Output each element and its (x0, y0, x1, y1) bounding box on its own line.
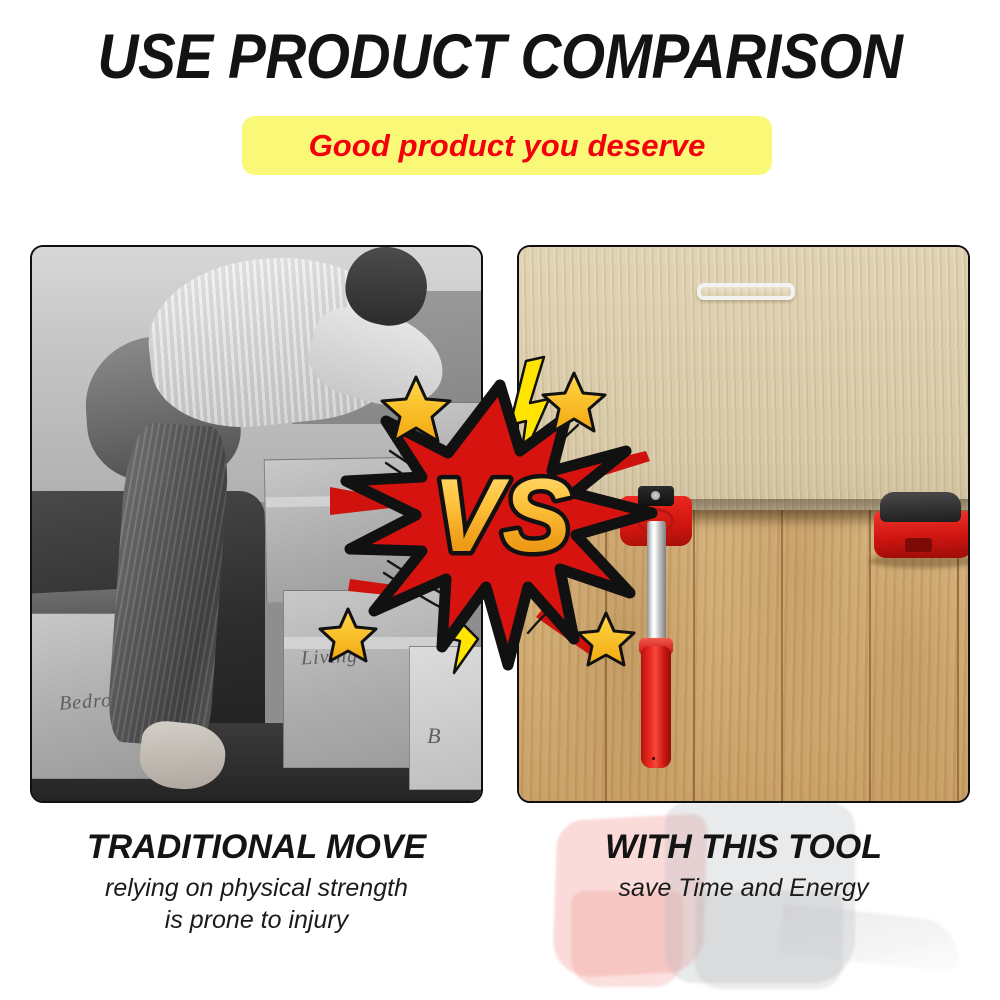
lifter-screw (651, 491, 661, 500)
caption-line: save Time and Energy (517, 872, 970, 904)
caption-line: relying on physical strength (30, 872, 483, 904)
product-comparison-infographic: USE PRODUCT COMPARISON Good product you … (0, 0, 1000, 1000)
caption-title-tool: WITH THIS TOOL (517, 826, 970, 868)
panel-traditional-move: Bedroom Living B (30, 245, 483, 803)
pink-handle-watermark (0, 0, 14, 427)
furniture-panel (517, 245, 970, 510)
watermark-red-base (571, 891, 683, 987)
caption-traditional-move: TRADITIONAL MOVE relying on physical str… (30, 826, 483, 936)
roller-notch (905, 538, 932, 551)
watermark-lifter-blade (778, 904, 962, 973)
with-this-tool-photo (519, 247, 968, 801)
caption-with-this-tool: WITH THIS TOOL save Time and Energy (517, 826, 970, 904)
lifter-grip (641, 646, 671, 768)
caption-sub-tool: save Time and Energy (517, 872, 970, 904)
caption-line: is prone to injury (30, 904, 483, 936)
lifter-shaft (647, 521, 667, 654)
watermark-gray-base (695, 891, 843, 989)
subtitle-badge-label: Good product you deserve (309, 128, 706, 164)
roller-pad (880, 492, 961, 522)
traditional-move-photo: Bedroom Living B (32, 247, 481, 801)
caption-title-traditional: TRADITIONAL MOVE (30, 826, 483, 868)
subtitle-badge: Good product you deserve (242, 116, 772, 175)
grayscale-overlay (32, 247, 481, 801)
panel-with-this-tool (517, 245, 970, 803)
furniture-handle (697, 283, 795, 300)
caption-sub-traditional: relying on physical strength is prone to… (30, 872, 483, 936)
page-title: USE PRODUCT COMPARISON (50, 22, 950, 92)
